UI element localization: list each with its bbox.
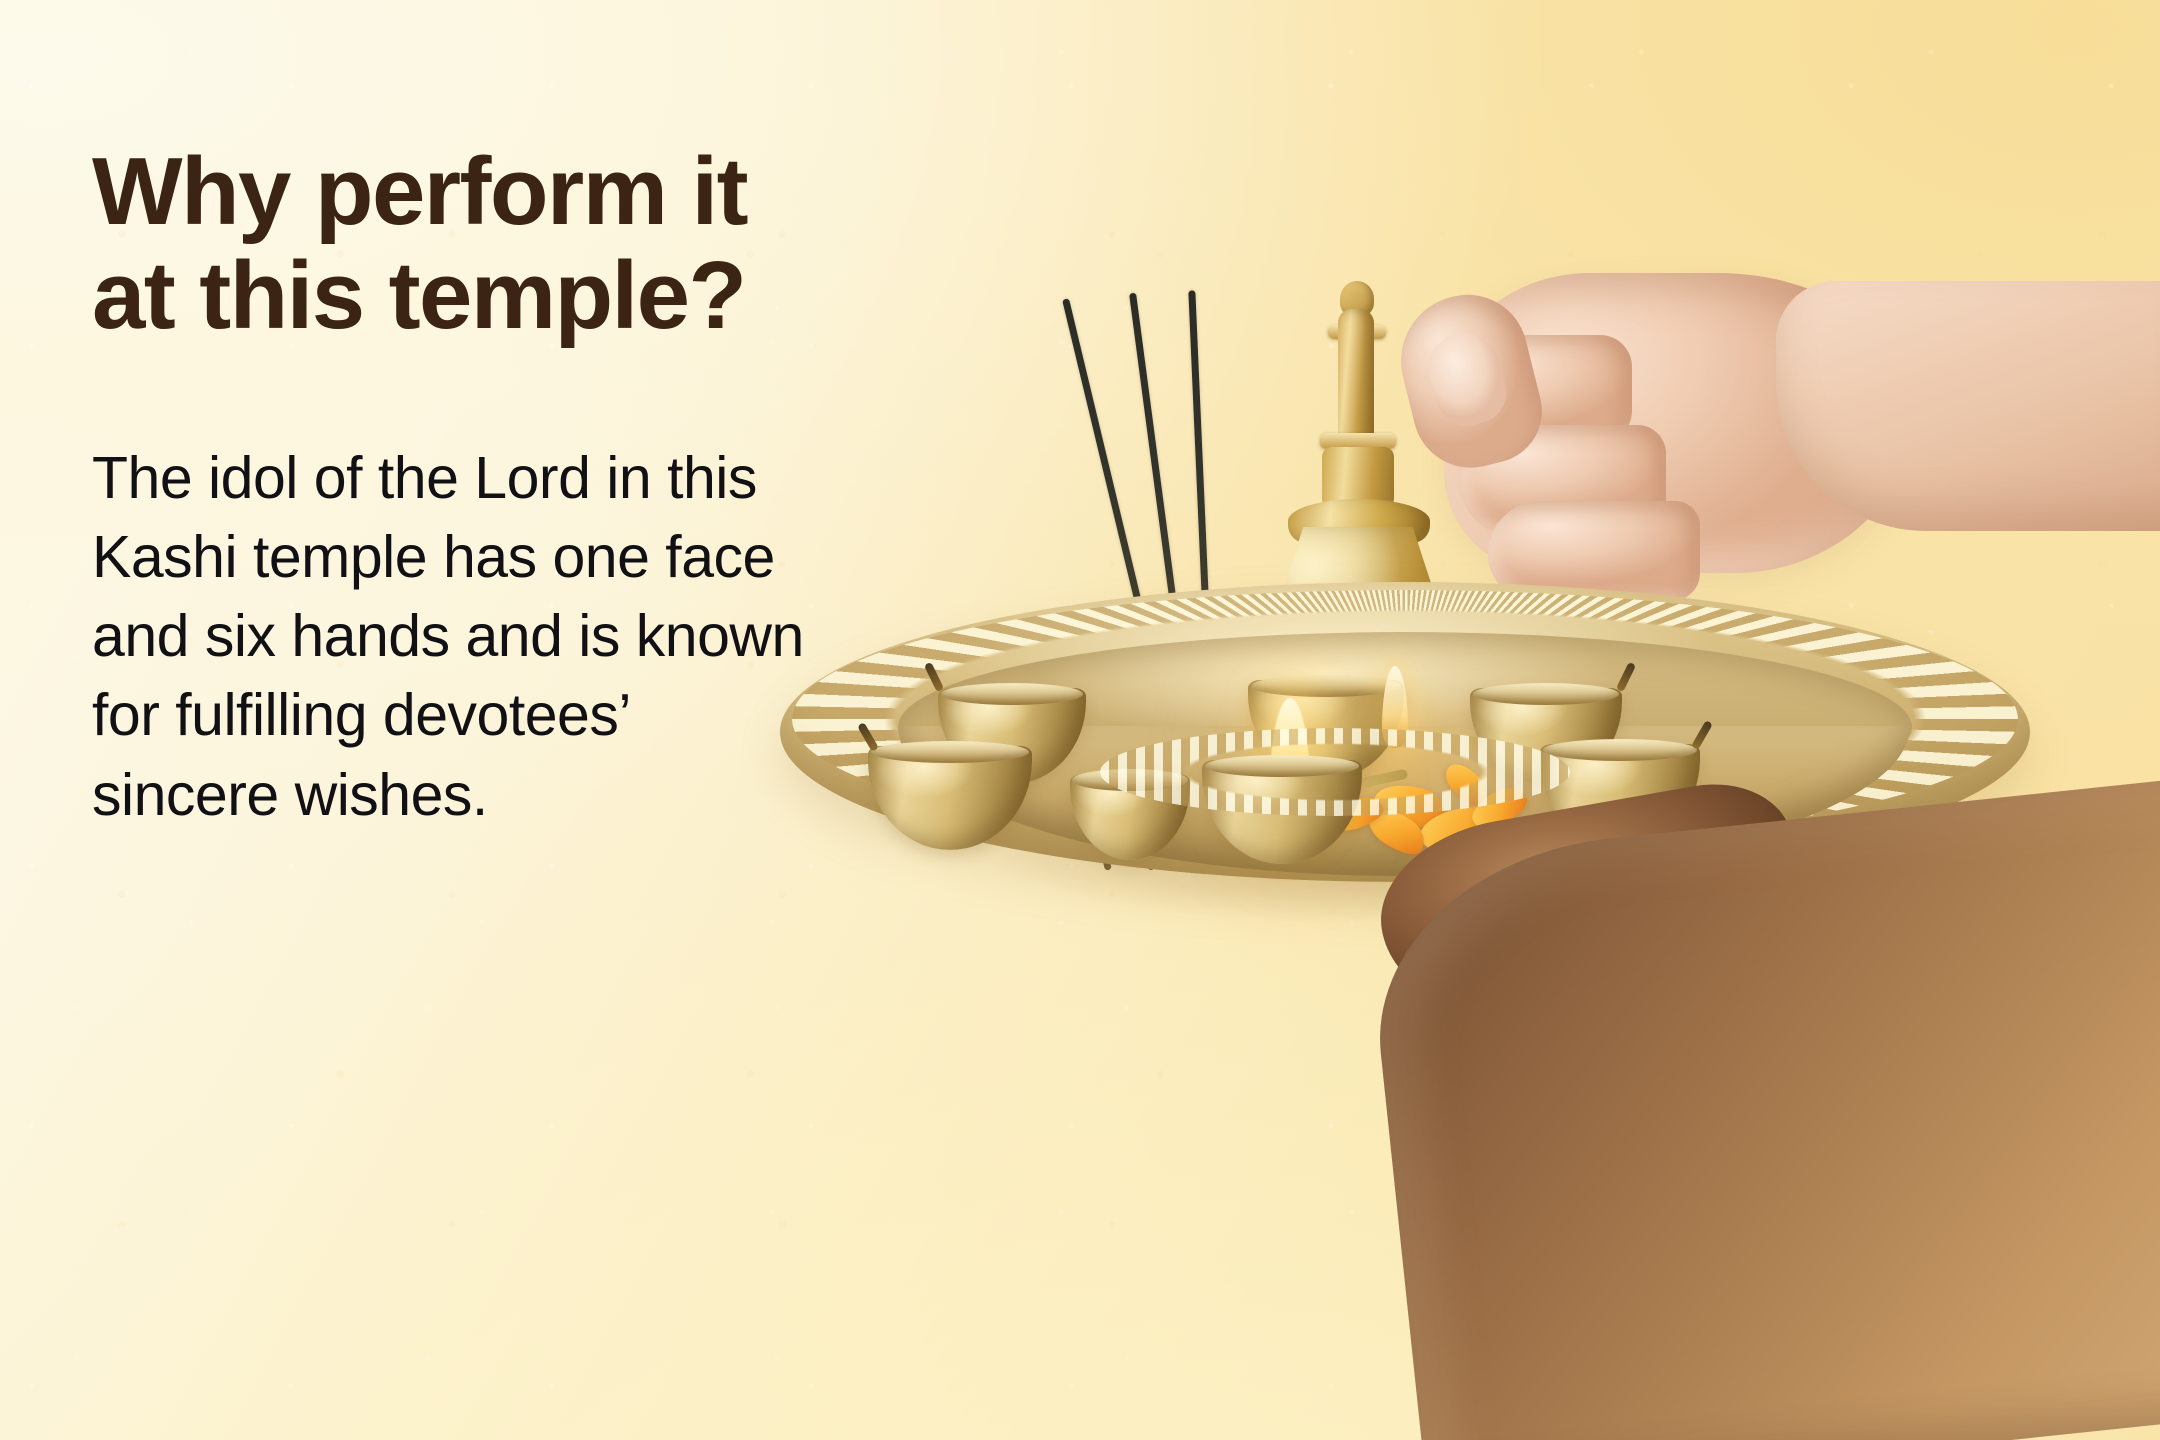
diya-cup-mouth xyxy=(871,741,1028,763)
diya-cup xyxy=(868,746,1032,850)
body-line-3: and six hands and is known xyxy=(92,597,852,676)
body-line-1: The idol of the Lord in this xyxy=(92,439,852,518)
body-line-2: Kashi temple has one face xyxy=(92,518,852,597)
diya-cup-mouth xyxy=(941,683,1083,705)
bell-neck xyxy=(1322,447,1394,505)
body-line-4: for fulfilling devotees’ xyxy=(92,676,852,755)
bell-handle xyxy=(1338,309,1374,451)
diya-cup-mouth xyxy=(1251,675,1401,697)
diya-cup-mouth xyxy=(1543,739,1697,761)
thali-inner-scallop xyxy=(1100,728,1570,816)
diya-cup-mouth xyxy=(1473,683,1619,705)
headline-line-2: at this temple? xyxy=(92,244,1102,348)
upper-forearm xyxy=(1776,281,2160,531)
slide-canvas: Why perform it at this temple? The idol … xyxy=(0,0,2160,1440)
headline-line-1: Why perform it xyxy=(92,140,1102,244)
body-line-5: sincere wishes. xyxy=(92,756,852,835)
aarti-photo xyxy=(1000,0,2160,1440)
body-paragraph: The idol of the Lord in this Kashi templ… xyxy=(92,439,852,834)
page-title: Why perform it at this temple? xyxy=(92,140,1102,347)
